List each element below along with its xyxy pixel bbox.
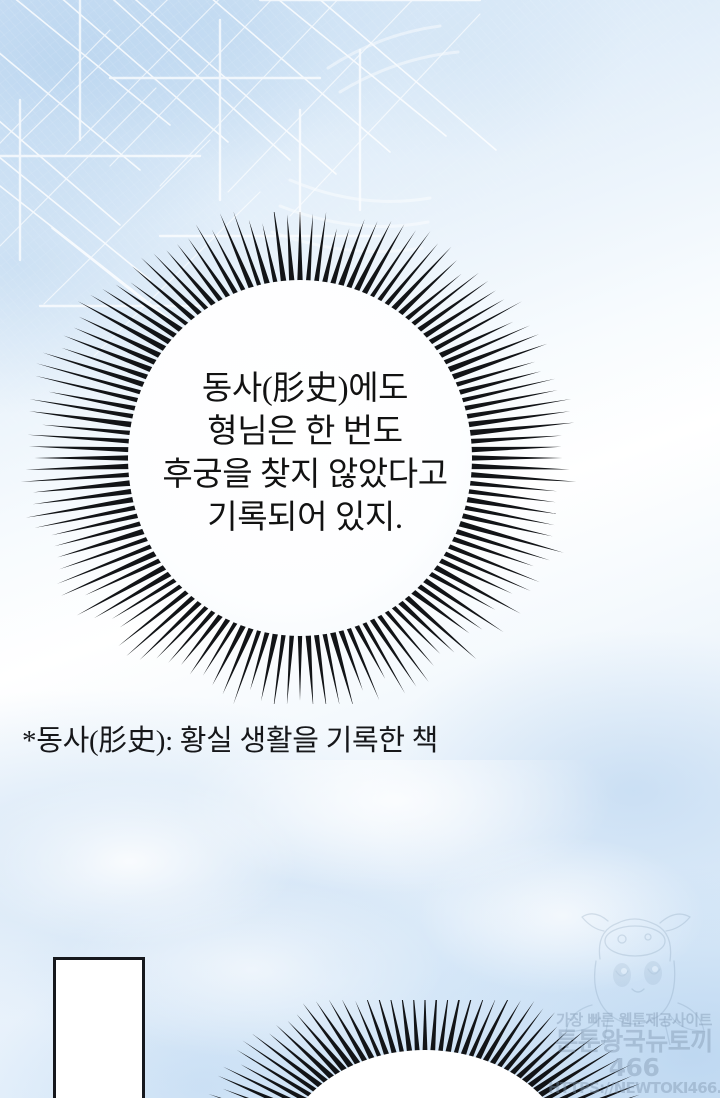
empty-white-panel — [53, 957, 145, 1098]
speech-bubble-bottom — [190, 1000, 660, 1098]
speech-bubble-bottom-shape — [190, 1000, 660, 1098]
speech-bubble-main-text: 동사(肜史)에도 형님은 한 번도 후궁을 찾지 않았다고 기록되어 있지. — [120, 368, 490, 540]
footnote-text: *동사(肜史): 황실 생활을 기록한 책 — [22, 724, 438, 759]
webtoon-page: 동사(肜史)에도 형님은 한 번도 후궁을 찾지 않았다고 기록되어 있지. *… — [0, 0, 720, 1098]
